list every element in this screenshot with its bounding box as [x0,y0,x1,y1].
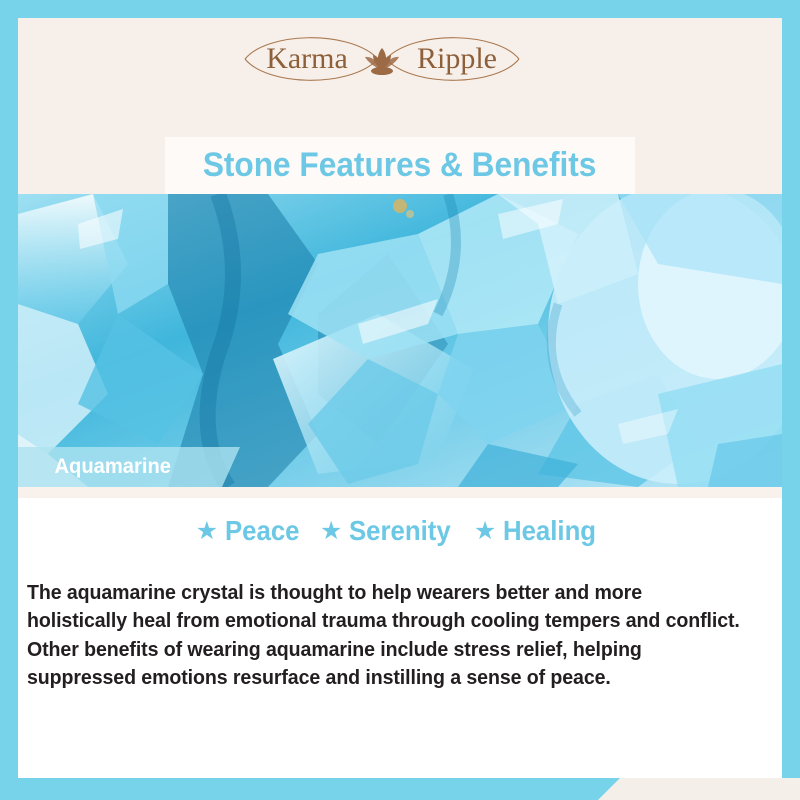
star-icon: ★ [474,519,496,544]
frame-border-right [782,0,800,800]
page-title: Stone Features & Benefits [203,146,597,185]
keyword-label: Healing [503,515,596,547]
stone-name-banner: Aquamarine [18,447,240,487]
stone-name-label: Aquamarine [18,455,171,479]
frame-border-left [0,0,18,800]
keyword-label: Peace [225,515,299,547]
photo-svg [18,194,782,487]
logo-text-karma: Karma [266,42,348,75]
star-icon: ★ [196,519,218,544]
description-paragraph: The aquamarine crystal is thought to hel… [27,579,741,693]
logo-svg: Karma Ripple [237,28,527,90]
logo-text-ripple: Ripple [417,42,497,75]
frame-border-top [0,0,800,18]
star-icon: ★ [320,519,342,544]
frame-bottom-cream-wedge [598,778,800,800]
keyword-label: Serenity [349,515,451,547]
aquamarine-crystal-cluster-photo [18,194,782,487]
cream-divider-strip [18,487,782,498]
keyword-item-peace: ★ Peace [196,515,306,547]
keyword-list: ★ Peace ★ Serenity ★ Healing [18,512,782,550]
keyword-item-healing: ★ Healing [460,515,605,547]
title-banner: Stone Features & Benefits [165,137,635,194]
infographic-card: Karma Ripple Stone Features & Benefits [0,0,800,800]
keyword-item-serenity: ★ Serenity [306,515,460,547]
brand-logo: Karma Ripple [0,22,764,96]
